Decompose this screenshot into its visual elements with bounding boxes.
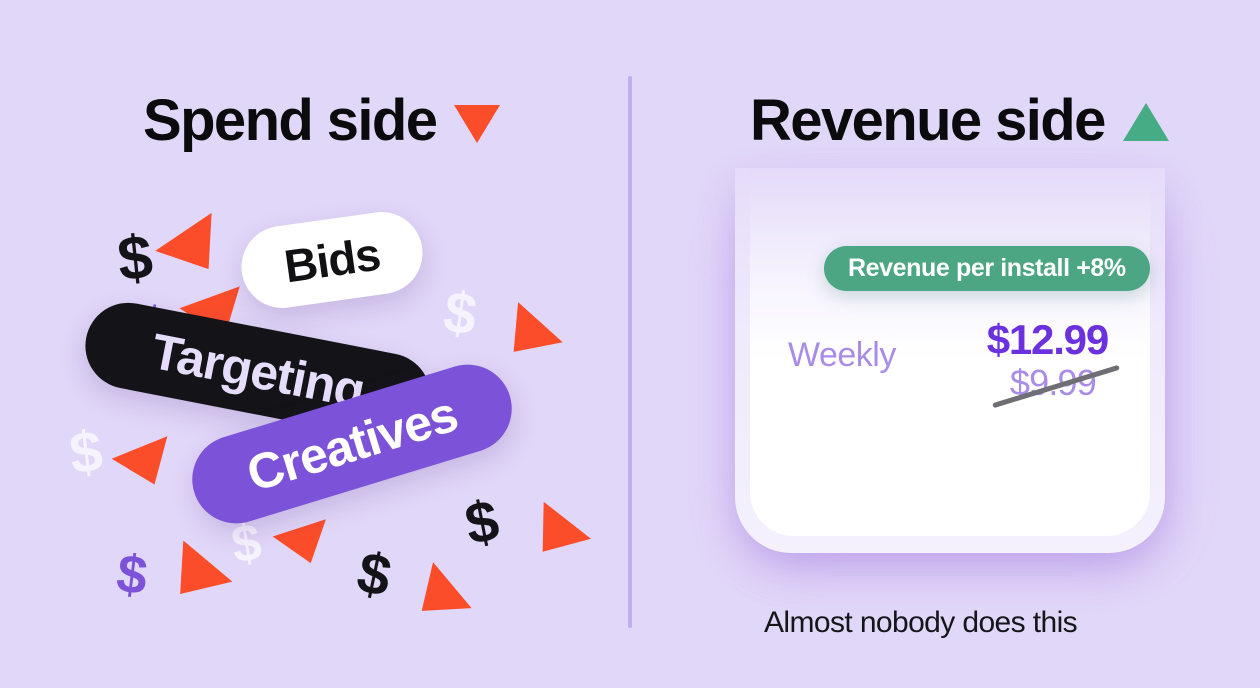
status-badge-label: Revenue per install +8% — [848, 254, 1126, 283]
triangle-marker-icon — [519, 502, 591, 570]
revenue-side-heading: Revenue side — [750, 92, 1169, 150]
chip-bids-label: Bids — [281, 227, 383, 294]
panel-divider — [628, 76, 632, 628]
triangle-down-icon — [454, 105, 500, 143]
triangle-marker-icon — [273, 519, 338, 571]
price-current: $12.99 — [987, 316, 1108, 364]
triangle-marker-icon — [156, 540, 233, 614]
dollar-sign-icon: $ — [440, 283, 480, 345]
spend-side-heading-label: Spend side — [143, 92, 436, 150]
triangle-marker-icon — [402, 562, 471, 634]
price-original-wrap: $9.99 — [1010, 362, 1096, 406]
chip-bids: Bids — [236, 207, 428, 314]
dollar-sign-icon: $ — [352, 543, 396, 606]
revenue-side-heading-label: Revenue side — [750, 92, 1105, 150]
plan-label: Weekly — [788, 336, 896, 375]
triangle-marker-icon — [112, 436, 183, 496]
triangle-up-icon — [1123, 103, 1169, 141]
dollar-sign-icon: $ — [114, 546, 150, 603]
dollar-sign-icon: $ — [67, 422, 106, 483]
dollar-sign-icon: $ — [228, 516, 265, 572]
triangle-marker-icon — [491, 302, 562, 372]
spend-side-heading: Spend side — [143, 92, 500, 150]
triangle-marker-icon — [155, 213, 237, 288]
dollar-sign-icon: $ — [461, 491, 504, 554]
status-badge: Revenue per install +8% — [824, 246, 1150, 291]
poster-canvas: Spend side $$$$$$$$ Bids Targeting Creat… — [0, 0, 1260, 688]
dollar-sign-icon: $ — [115, 226, 156, 291]
caption: Almost nobody does this — [764, 606, 1077, 640]
